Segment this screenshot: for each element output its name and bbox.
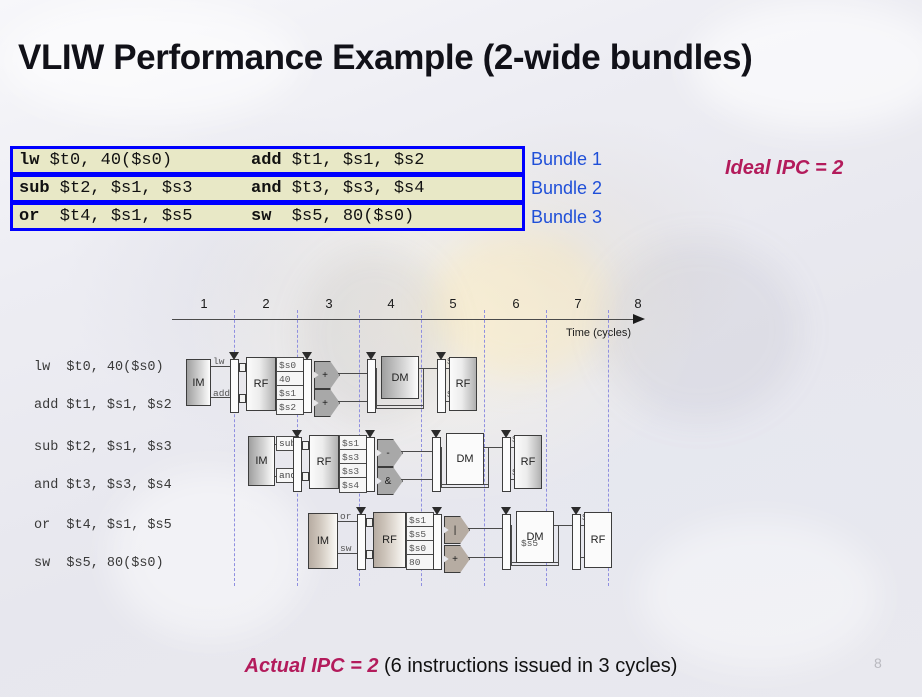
wire xyxy=(488,447,489,487)
time-axis-arrow-icon xyxy=(633,314,645,324)
unit-im: IM xyxy=(186,359,211,406)
wire xyxy=(376,408,424,409)
bundle-label: Bundle 2 xyxy=(531,175,602,204)
table-row: or $t4, $s1, $s5 sw $s5, 80($s0) xyxy=(10,202,525,231)
unit-im: IM xyxy=(248,436,275,486)
table-row: sub $t2, $s1, $s3 and $t3, $s3, $s4 xyxy=(10,174,525,203)
memory-value-label: $s5 xyxy=(521,538,538,549)
bundle-label: Bundle 3 xyxy=(531,204,602,233)
wire xyxy=(441,447,442,487)
pipeline-latch xyxy=(502,437,511,492)
pipeline-latch xyxy=(432,437,441,492)
page-number: 8 xyxy=(874,655,882,671)
instruction-operands: $t4, $s1, $s5 xyxy=(39,207,192,226)
unit-dm: DM xyxy=(381,356,419,399)
instruction-opcode: add xyxy=(251,151,282,170)
wire xyxy=(558,525,559,565)
pipeline-latch xyxy=(293,437,302,492)
instruction-text: sub $t2, $s1, $s3 xyxy=(34,440,172,455)
actual-ipc-highlight: Actual IPC = 2 xyxy=(245,655,379,677)
fetch-label: sw xyxy=(340,543,351,554)
instruction-opcode: and xyxy=(251,179,282,198)
port-nub xyxy=(239,363,246,372)
pipeline-latch xyxy=(230,359,239,413)
unit-im: IM xyxy=(308,513,338,569)
wire xyxy=(376,405,424,406)
unit-dm: DM xyxy=(516,511,554,563)
alu-op-label: + xyxy=(452,554,458,565)
bundle-label-list: Bundle 1 Bundle 2 Bundle 3 xyxy=(531,146,602,233)
pipeline-latch xyxy=(357,514,366,570)
cycle-tick-label: 3 xyxy=(319,296,339,311)
cycle-tick-label: 5 xyxy=(443,296,463,311)
operand-cell: $s4 xyxy=(339,477,367,493)
alu-op-label: + xyxy=(322,398,328,409)
instruction-opcode: lw xyxy=(19,151,39,170)
alu-op-label: + xyxy=(322,370,328,381)
time-axis-label: Time (cycles) xyxy=(566,327,631,339)
instruction-text: lw $t0, 40($s0) xyxy=(34,360,164,375)
cycle-tick-label: 1 xyxy=(194,296,214,311)
table-row: lw $t0, 40($s0) add $t1, $s1, $s2 xyxy=(10,146,525,175)
operand-cell: 80 xyxy=(406,554,434,570)
instruction-opcode: or xyxy=(19,207,39,226)
cycle-tick-label: 4 xyxy=(381,296,401,311)
pipeline-latch xyxy=(433,514,442,570)
cycle-tick-label: 6 xyxy=(506,296,526,311)
fetch-label: lw xyxy=(213,356,224,367)
wire xyxy=(511,565,559,566)
unit-rf: RF xyxy=(514,435,542,489)
alu-op-label: - xyxy=(386,448,389,459)
fetch-label: or xyxy=(340,511,351,522)
instruction-text: add $t1, $s1, $s2 xyxy=(34,398,172,413)
port-nub xyxy=(302,441,309,450)
cycle-tick-label: 2 xyxy=(256,296,276,311)
pipeline-latch xyxy=(502,514,511,570)
instruction-text: sw $s5, 80($s0) xyxy=(34,556,164,571)
footer-caption: Actual IPC = 2 (6 instructions issued in… xyxy=(0,655,922,678)
alu-op-label: | xyxy=(454,525,457,536)
cycle-tick-label: 7 xyxy=(568,296,588,311)
cycle-tick-label: 8 xyxy=(628,296,648,311)
port-nub xyxy=(366,550,373,559)
wire xyxy=(441,487,489,488)
unit-dm: DM xyxy=(446,433,484,485)
time-axis-line xyxy=(172,319,634,320)
port-nub xyxy=(366,518,373,527)
unit-rf: RF xyxy=(309,435,339,489)
pipeline-latch xyxy=(367,359,376,413)
ideal-ipc-annotation: Ideal IPC = 2 xyxy=(725,157,843,180)
unit-rf: RF xyxy=(449,357,477,411)
port-nub xyxy=(302,472,309,481)
bundle-code-table: lw $t0, 40($s0) add $t1, $s1, $s2 sub $t… xyxy=(10,146,525,230)
instruction-operands: $t2, $s1, $s3 xyxy=(50,179,193,198)
page-title: VLIW Performance Example (2-wide bundles… xyxy=(18,38,908,78)
wire xyxy=(511,525,512,565)
pipeline-latch xyxy=(303,359,312,413)
unit-rf: RF xyxy=(246,357,276,411)
fetch-label: add xyxy=(213,388,230,399)
background-wash xyxy=(640,520,880,670)
instruction-operands: $s5, 80($s0) xyxy=(271,207,414,226)
pipeline-latch xyxy=(437,359,446,413)
unit-rf: RF xyxy=(584,512,612,568)
bundle-label: Bundle 1 xyxy=(531,146,602,175)
instruction-operands: $t1, $s1, $s2 xyxy=(282,151,425,170)
instruction-operands: $t0, 40($s0) xyxy=(39,151,172,170)
actual-ipc-detail: (6 instructions issued in 3 cycles) xyxy=(378,655,677,677)
pipeline-latch xyxy=(366,437,375,492)
instruction-opcode: sw xyxy=(251,207,271,226)
instruction-operands: $t3, $s3, $s4 xyxy=(282,179,425,198)
instruction-text: and $t3, $s3, $s4 xyxy=(34,478,172,493)
operand-cell: $s2 xyxy=(276,399,304,415)
port-nub xyxy=(239,394,246,403)
unit-rf: RF xyxy=(373,512,406,568)
wire xyxy=(376,368,377,408)
pipeline-latch xyxy=(572,514,581,570)
instruction-text: or $t4, $s1, $s5 xyxy=(34,518,172,533)
wire xyxy=(423,368,424,408)
instruction-opcode: sub xyxy=(19,179,50,198)
alu-op-label: & xyxy=(385,476,392,487)
